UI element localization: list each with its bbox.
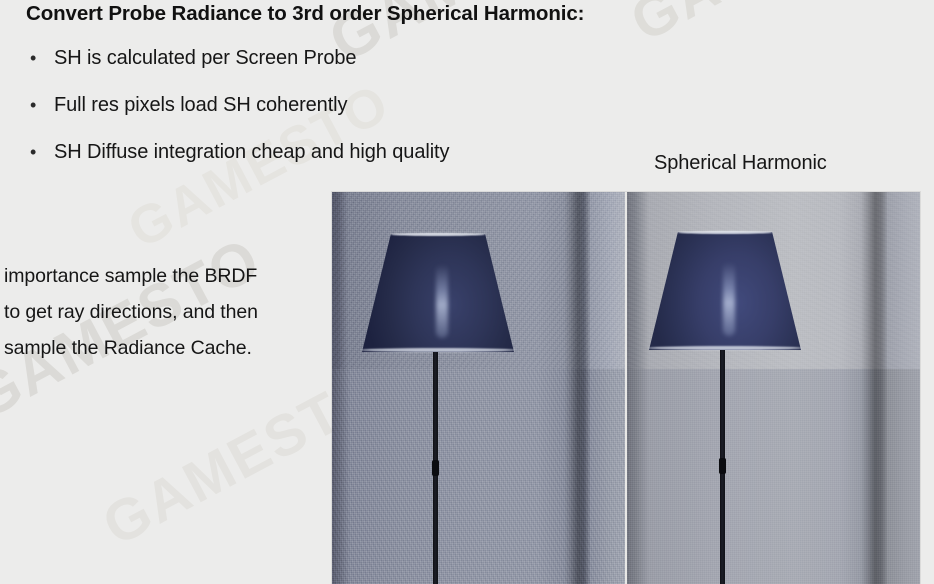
photo-divider: [625, 192, 627, 584]
list-item: • SH is calculated per Screen Probe: [26, 46, 646, 93]
side-note-line: sample the Radiance Cache.: [4, 330, 334, 366]
lamp-shade-highlight: [436, 264, 448, 338]
list-item: • Full res pixels load SH coherently: [26, 93, 646, 140]
side-note-line: to get ray directions, and then: [4, 294, 334, 330]
left-render-photo: [332, 192, 625, 584]
slide-title: Convert Probe Radiance to 3rd order Sphe…: [26, 2, 584, 26]
lamp-pole-joint: [719, 458, 726, 474]
lamp-shade-top-rim: [390, 233, 486, 236]
wall-lower-band: [332, 369, 625, 584]
right-render-photo: [625, 192, 920, 584]
lamp-shade-highlight: [723, 262, 735, 336]
slide-canvas: GAMESTO GAMESTO GAMESTO GAMESTO GAMESTO …: [0, 0, 934, 584]
bullet-point-icon: •: [26, 93, 54, 117]
comparison-image-pair: [332, 192, 920, 584]
lamp-shade-top-rim: [677, 231, 773, 234]
lamp-shade-bottom-rim: [361, 348, 515, 352]
bullet-list: • SH is calculated per Screen Probe • Fu…: [26, 46, 646, 187]
side-note-line: importance sample the BRDF: [4, 258, 334, 294]
bullet-point-icon: •: [26, 140, 54, 164]
list-item: • SH Diffuse integration cheap and high …: [26, 140, 646, 187]
bullet-label: Full res pixels load SH coherently: [54, 93, 347, 117]
lamp-pole-joint: [432, 460, 439, 476]
wall-lower-band: [625, 369, 920, 584]
image-caption: Spherical Harmonic: [654, 152, 827, 175]
watermark-text: GAMESTO: [620, 0, 922, 55]
bullet-point-icon: •: [26, 46, 54, 70]
bullet-label: SH is calculated per Screen Probe: [54, 46, 356, 70]
bullet-label: SH Diffuse integration cheap and high qu…: [54, 140, 449, 164]
side-note: importance sample the BRDF to get ray di…: [4, 258, 334, 366]
lamp-shade-bottom-rim: [648, 346, 802, 350]
